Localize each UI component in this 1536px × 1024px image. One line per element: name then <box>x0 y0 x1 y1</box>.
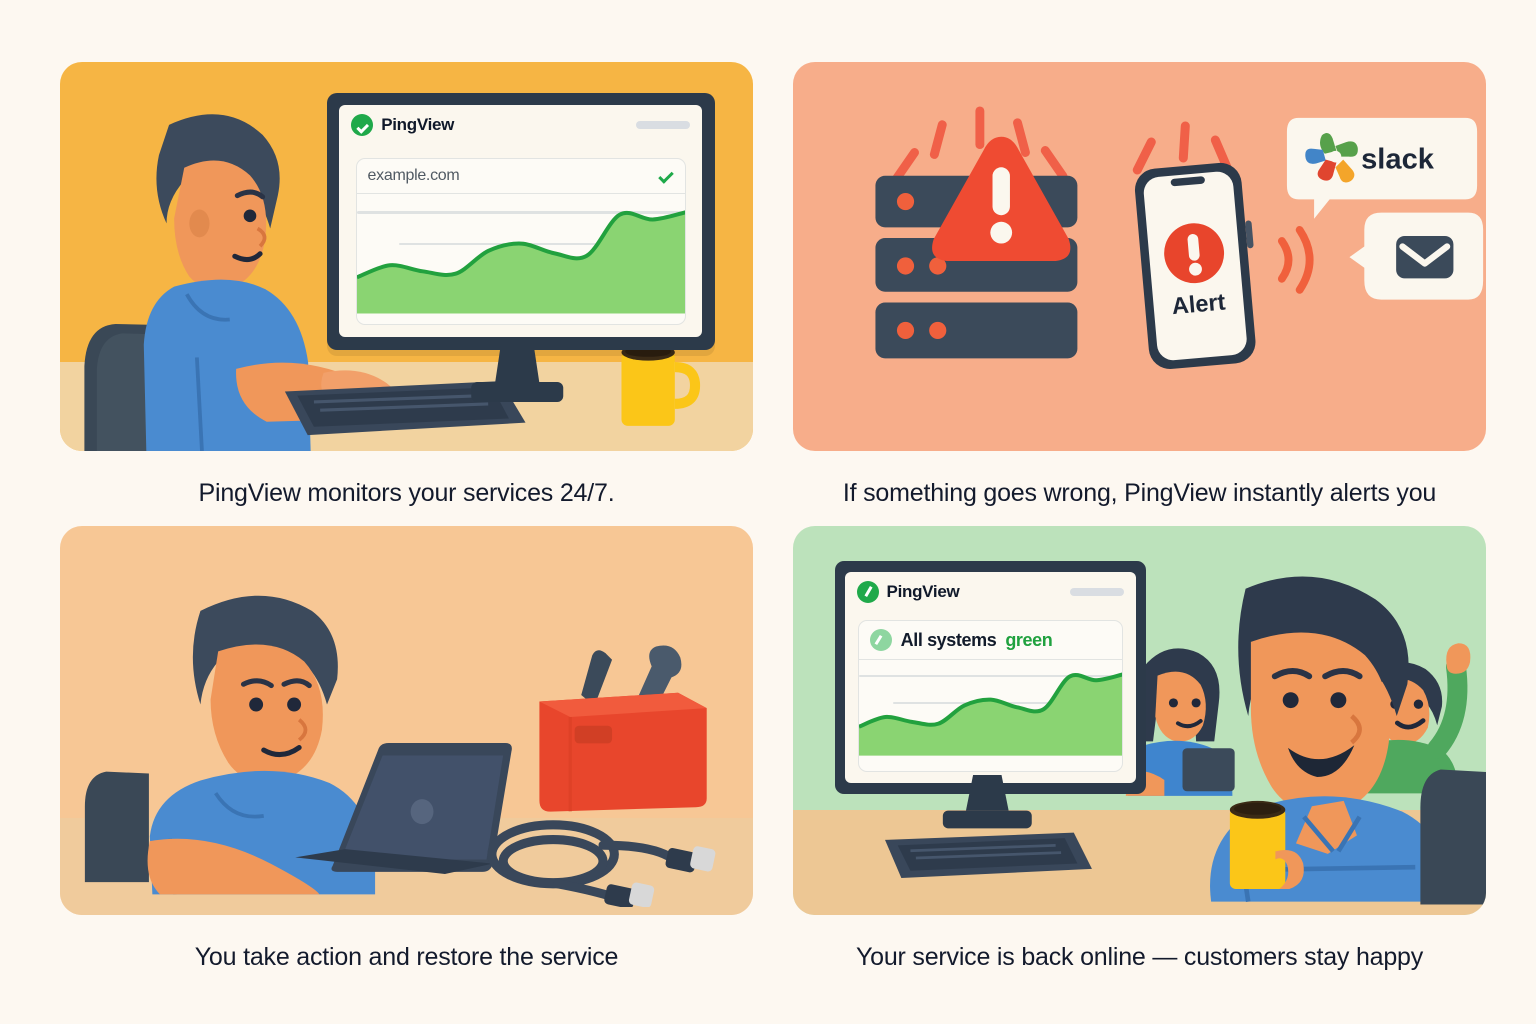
monitor-screen: PingView All systems green <box>845 572 1137 783</box>
phone-alert-label: Alert <box>1170 289 1226 320</box>
monitor-stand <box>441 342 593 412</box>
keyboard-icon[interactable] <box>855 829 1118 883</box>
slack-label: slack <box>1361 143 1435 175</box>
chart-series-area <box>859 659 1123 756</box>
coiled-cable-icon <box>476 806 725 907</box>
caption-2: If something goes wrong, PingView instan… <box>793 451 1486 508</box>
panel-recovered: PingView All systems green <box>793 526 1486 915</box>
warning-triangle-icon <box>925 128 1077 272</box>
panel-alerting: Alert <box>793 62 1486 451</box>
uptime-area-chart <box>859 659 1123 771</box>
email-notification-bubble[interactable] <box>1347 202 1486 319</box>
caption-4: Your service is back online — customers … <box>793 915 1486 972</box>
app-title: PingView <box>381 115 454 135</box>
signal-waves-icon <box>1264 221 1326 299</box>
check-circle-soft-icon <box>870 629 892 651</box>
coffee-mug-icon <box>1216 794 1313 903</box>
check-circle-icon <box>351 114 373 136</box>
panel-cell-4: PingView All systems green <box>793 526 1486 972</box>
panel-cell-1: PingView example.com <box>60 62 753 508</box>
panel-cell-3: You take action and restore the service <box>60 526 753 972</box>
app-title: PingView <box>887 582 960 602</box>
dashboard-header: PingView <box>845 572 1137 607</box>
status-text-accent: green <box>1005 630 1052 651</box>
monitored-url-row[interactable]: example.com <box>357 159 686 194</box>
status-text-primary: All systems <box>901 630 997 651</box>
desktop-monitor: PingView example.com <box>327 93 715 350</box>
status-row: All systems green <box>859 621 1123 660</box>
header-pill-placeholder <box>1070 588 1124 596</box>
dashboard-header: PingView <box>339 105 702 140</box>
panel-cell-2: Alert <box>793 62 1486 508</box>
storyboard-grid: PingView example.com <box>0 0 1536 1024</box>
desktop-monitor: PingView All systems green <box>835 561 1147 794</box>
caption-1: PingView monitors your services 24/7. <box>60 451 753 508</box>
panel-remediation <box>60 526 753 915</box>
header-pill-placeholder <box>636 121 690 129</box>
dashboard-card: All systems green <box>858 620 1124 772</box>
monitor-screen: PingView example.com <box>339 105 702 337</box>
caption-3: You take action and restore the service <box>60 915 753 972</box>
office-chair-icon <box>1417 767 1486 907</box>
check-icon <box>657 168 674 185</box>
envelope-icon <box>1397 236 1454 278</box>
check-circle-icon <box>857 581 879 603</box>
dashboard-card: example.com <box>356 158 687 325</box>
uptime-area-chart <box>357 193 686 324</box>
panel-monitoring: PingView example.com <box>60 62 753 451</box>
chart-series-area <box>357 193 686 313</box>
toolbox-icon <box>524 639 711 826</box>
url-value: example.com <box>368 167 460 185</box>
mobile-phone-alert[interactable]: Alert <box>1119 159 1271 373</box>
monitor-stand <box>918 775 1057 837</box>
